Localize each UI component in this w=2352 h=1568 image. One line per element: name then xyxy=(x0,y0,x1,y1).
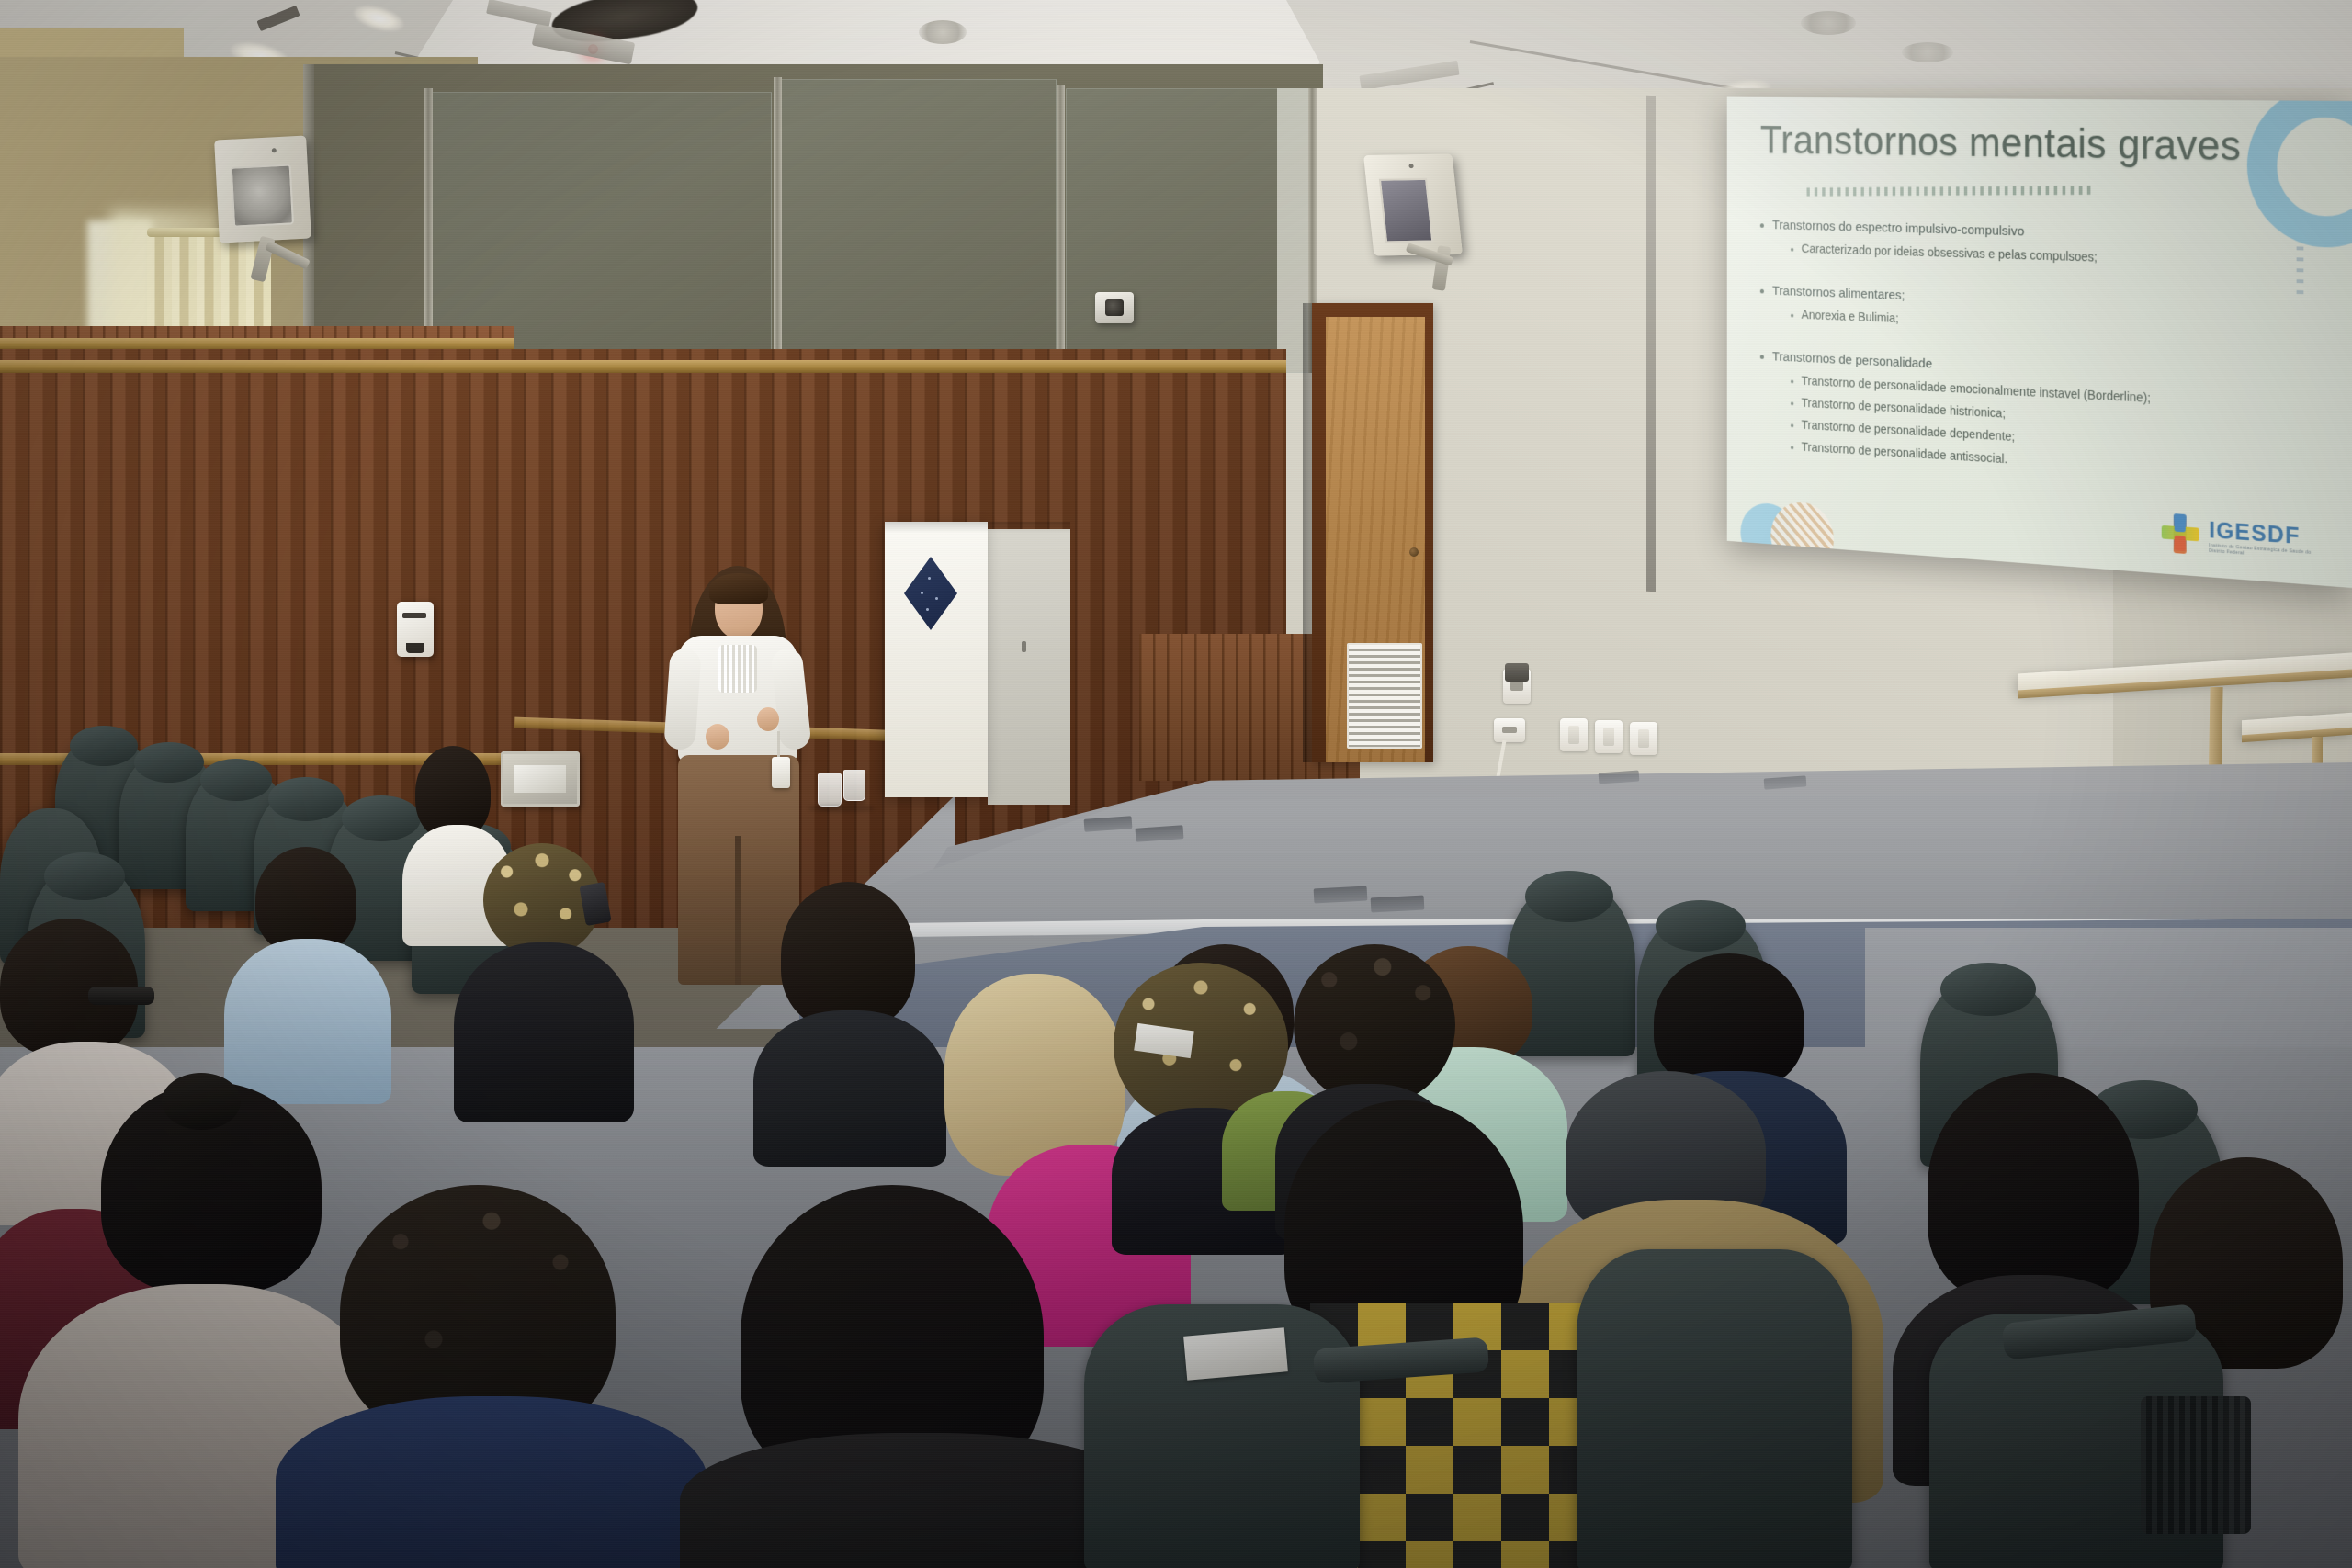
slide-decor-dots xyxy=(2297,246,2304,299)
audience-head xyxy=(781,882,915,1029)
slide-title: Transtornos mentais graves xyxy=(1760,116,2242,170)
slide-bullet-marker xyxy=(1791,423,1793,427)
dispenser-label-slot xyxy=(402,613,426,618)
slide-bullet-l2: Caracterizado por ideias obsessivas e pe… xyxy=(1802,243,2098,265)
slide-bullet-l2: Transtorno de personalidade histrionica; xyxy=(1802,397,2006,422)
slide-bullet-l2: Anorexia e Bulimia; xyxy=(1802,309,1899,326)
water-cup xyxy=(843,770,865,801)
projection-screen: Transtornos mentais graves Transtornos d… xyxy=(1727,97,2352,588)
slide-surface: Transtornos mentais graves Transtornos d… xyxy=(1727,97,2352,588)
presenter-blouse-ruffle xyxy=(718,645,757,693)
audience-head xyxy=(255,847,356,953)
seat-headrest xyxy=(342,795,421,841)
pa-speaker-left xyxy=(214,135,311,243)
door-knob[interactable] xyxy=(1409,547,1419,557)
presenter-trousers-seam xyxy=(735,836,741,985)
ceiling-downlight-ring xyxy=(1902,42,1953,62)
audience-garment xyxy=(753,1010,946,1167)
slide-bullet-l2: Transtorno de personalidade antissocial. xyxy=(1802,441,2008,467)
seat-headrest xyxy=(1940,963,2036,1016)
door-vent-grille xyxy=(1347,643,1422,749)
presenter-lanyard xyxy=(777,731,780,759)
plug-adapter xyxy=(1505,663,1529,682)
hair-bun xyxy=(162,1073,241,1130)
slide-bullet-marker xyxy=(1791,401,1793,405)
podium-side-panel xyxy=(988,529,1070,805)
seat-headrest xyxy=(1525,871,1613,922)
seat-headrest xyxy=(268,777,344,821)
slide-bullet-marker xyxy=(1791,380,1793,384)
podium-top xyxy=(885,522,1070,533)
slide-bullet-marker xyxy=(1760,289,1764,294)
power-outlet[interactable] xyxy=(1494,718,1525,742)
slide-bullet-l1: Transtornos de personalidade xyxy=(1772,349,1932,372)
podium xyxy=(885,522,988,797)
igesdf-cross-icon xyxy=(2160,511,2201,557)
seat-headrest xyxy=(1656,900,1746,952)
slide-bullet-l2: Transtorno de personalidade dependente; xyxy=(1802,419,2015,445)
light-switch[interactable] xyxy=(1560,718,1588,751)
slide-bullet-marker xyxy=(1760,355,1764,359)
camera-lens-icon xyxy=(1105,299,1124,316)
glass-partition-panel xyxy=(781,79,1057,373)
slide-bullet-marker xyxy=(1760,223,1764,228)
slide-bullet-l1: Transtornos alimentares; xyxy=(1772,284,1905,304)
igesdf-logo: IGESDF Instituto de Gestao Estrategica d… xyxy=(2160,511,2322,565)
dispenser-nozzle xyxy=(406,643,424,653)
slide-bullet-marker xyxy=(1791,314,1793,318)
auditorium-seat[interactable] xyxy=(1577,1249,1852,1568)
eyeglasses-icon xyxy=(88,987,154,1005)
glass-partition-panel xyxy=(1066,88,1314,373)
slide-bullet-marker xyxy=(1791,446,1793,449)
podium-keyhole xyxy=(1022,641,1026,652)
seat-headrest xyxy=(200,759,272,801)
screen-left-edge xyxy=(1646,96,1656,592)
audience-garment xyxy=(276,1396,707,1568)
wall-access-panel-window xyxy=(514,765,566,793)
slide-bullet-marker xyxy=(1791,248,1793,252)
handout-paper xyxy=(1183,1327,1288,1380)
presenter-hand-right xyxy=(757,707,779,731)
partition-mullion xyxy=(774,77,782,377)
audience-head xyxy=(1928,1073,2139,1303)
light-switch[interactable] xyxy=(1630,722,1657,755)
slide-bullet-l1: Transtornos do espectro impulsivo-compul… xyxy=(1772,218,2024,240)
audience-garment xyxy=(224,939,391,1104)
presenter-id-badge xyxy=(772,757,790,788)
pa-speaker-right xyxy=(1363,153,1463,255)
light-switch[interactable] xyxy=(1595,720,1623,753)
auditorium-photo: Transtornos mentais graves Transtornos d… xyxy=(0,0,2352,1568)
seat-back-vent xyxy=(2141,1396,2251,1534)
presenter-hand-left xyxy=(706,724,729,750)
partition-mullion xyxy=(1057,85,1065,377)
seat-headrest xyxy=(134,742,204,783)
presenter-hair-front xyxy=(709,573,768,604)
slide-decor-ring xyxy=(2247,97,2352,250)
audience-head xyxy=(1294,944,1455,1106)
seat-headrest xyxy=(44,852,125,900)
slide-title-underline-dots xyxy=(1806,186,2096,196)
audience-member xyxy=(415,746,492,838)
stage-floor-marking xyxy=(1371,895,1425,912)
stage-floor-marking xyxy=(1314,886,1368,903)
wood-rail xyxy=(0,360,1286,373)
ceiling-downlight-ring xyxy=(1801,11,1856,35)
seat-headrest xyxy=(70,726,138,766)
ceiling-downlight-ring xyxy=(919,20,967,44)
audience-garment xyxy=(454,942,634,1122)
